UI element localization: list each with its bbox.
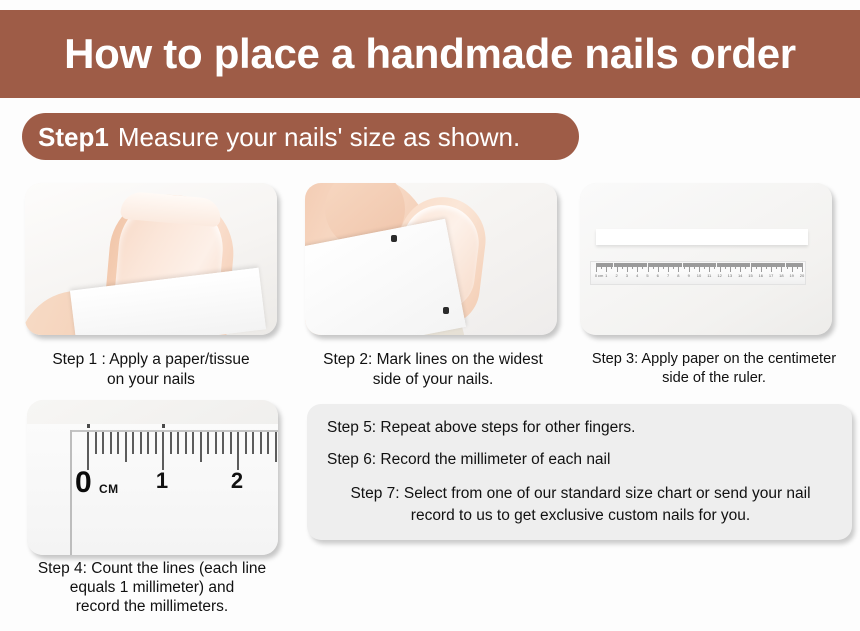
ruler-mm-tick — [185, 432, 187, 454]
ruler-mm-tick — [132, 432, 134, 454]
ruler-mm-tick — [222, 432, 224, 454]
photo-card-step-3: 01234567891011121314151617181920cm — [580, 183, 832, 335]
caption-step-4-line-2: equals 1 millimeter) and — [2, 579, 302, 598]
ruler-left-edge — [70, 430, 72, 555]
ruler-number-18: 18 — [779, 273, 783, 278]
ruler-number-14: 14 — [738, 273, 742, 278]
ruler-number-13: 13 — [728, 273, 732, 278]
ruler-number-4: 4 — [636, 273, 638, 278]
ruler-number-11: 11 — [707, 273, 711, 278]
ruler-number-8: 8 — [677, 273, 679, 278]
photo-card-step-1 — [25, 183, 277, 335]
ruler-unit-label-small: cm — [598, 273, 603, 278]
ruler-mm-tick — [275, 432, 277, 462]
ruler-number-7: 7 — [667, 273, 669, 278]
ruler-mm-tick — [260, 432, 262, 454]
caption-step-1-line-1: Step 1 : Apply a paper/tissue — [10, 350, 292, 370]
ruler-mm-tick — [110, 432, 112, 454]
ruler-mm-tick — [207, 432, 209, 454]
step1-banner-text: Measure your nails' size as shown. — [118, 124, 520, 150]
finger-with-paper-strip-photo — [25, 183, 277, 335]
ruler-number-12: 12 — [717, 273, 721, 278]
ruler-mm-tick — [125, 432, 127, 462]
ruler-unit-label: CM — [99, 482, 119, 496]
ruler-number-16: 16 — [759, 273, 763, 278]
ruler-number-20: 20 — [800, 273, 804, 278]
page-header-bar: How to place a handmade nails order — [0, 10, 860, 98]
ruler-mm-tick — [147, 432, 149, 454]
marking-paper-on-nail-photo — [305, 183, 557, 335]
caption-step-3-line-1: Step 3: Apply paper on the centimeter — [570, 350, 858, 369]
mark-dot-left — [87, 424, 90, 428]
ruler-mm-tick — [267, 432, 269, 454]
ruler-mm-tick — [252, 432, 254, 454]
ruler-number-1: 1 — [605, 273, 607, 278]
ruler-number-2: 2 — [615, 273, 617, 278]
ruler-number-19: 19 — [789, 273, 793, 278]
page-title: How to place a handmade nails order — [64, 33, 796, 75]
mark-dot-right — [162, 424, 165, 428]
ruler-number-3: 3 — [626, 273, 628, 278]
ruler-closeup-photo: 0 CM 123 — [27, 400, 278, 555]
ruler-mm-tick — [102, 432, 104, 454]
ruler-mm-tick — [140, 432, 142, 454]
ruler-mm-tick — [87, 432, 89, 470]
ruler-number-10: 10 — [697, 273, 701, 278]
caption-step-3: Step 3: Apply paper on the centimeter si… — [570, 350, 858, 388]
ruler-mm-tick — [117, 432, 119, 454]
caption-step-4-line-1: Step 4: Count the lines (each line — [2, 560, 302, 579]
ruler-mm-tick — [95, 432, 97, 454]
photo-card-step-2 — [305, 183, 557, 335]
ruler-mm-tick — [215, 432, 217, 454]
caption-step-2: Step 2: Mark lines on the widest side of… — [292, 350, 574, 390]
ruler-number-2: 2 — [231, 468, 243, 494]
paper-strip-on-ruler-photo: 01234567891011121314151617181920cm — [580, 183, 832, 335]
ruler-mm-tick — [155, 432, 157, 454]
ruler-number-17: 17 — [769, 273, 773, 278]
step1-banner: Step1 Measure your nails' size as shown. — [22, 113, 579, 160]
ruler-number-1: 1 — [156, 468, 168, 494]
step-5-line: Step 5: Repeat above steps for other fin… — [327, 420, 834, 436]
ruler-mm-tick — [200, 432, 202, 462]
pen-mark-top — [391, 235, 397, 242]
ruler-mm-tick — [162, 432, 164, 470]
ruler-mm-tick — [237, 432, 239, 470]
ruler-number-15: 15 — [748, 273, 752, 278]
caption-step-2-line-1: Step 2: Mark lines on the widest — [292, 350, 574, 370]
step-6-line: Step 6: Record the millimeter of each na… — [327, 452, 834, 468]
paper-strip-shape — [596, 229, 808, 245]
step1-badge-label: Step1 — [38, 124, 109, 150]
caption-step-1-line-2: on your nails — [10, 370, 292, 390]
steps-5-to-7-panel: Step 5: Repeat above steps for other fin… — [307, 404, 852, 540]
ruler-tick-marks: 01234567891011121314151617181920cm — [591, 262, 805, 284]
pen-mark-bottom — [443, 307, 449, 314]
caption-step-4: Step 4: Count the lines (each line equal… — [2, 560, 302, 617]
ruler-number-0: 0 — [595, 273, 597, 278]
caption-step-4-line-3: record the millimeters. — [2, 598, 302, 617]
caption-step-3-line-2: side of the ruler. — [570, 369, 858, 388]
ruler-zero-label: 0 — [75, 466, 92, 500]
photo-card-step-4: 0 CM 123 — [27, 400, 278, 555]
ruler-mm-tick — [192, 432, 194, 454]
caption-step-2-line-2: side of your nails. — [292, 370, 574, 390]
photo-background — [580, 183, 832, 335]
caption-step-1: Step 1 : Apply a paper/tissue on your na… — [10, 350, 292, 390]
ruler-number-5: 5 — [646, 273, 648, 278]
ruler-tick — [802, 263, 803, 272]
ruler-mm-tick — [245, 432, 247, 454]
ruler-mm-tick — [170, 432, 172, 454]
small-ruler-shape: 01234567891011121314151617181920cm — [590, 261, 806, 285]
ruler-mm-tick — [230, 432, 232, 454]
ruler-number-9: 9 — [688, 273, 690, 278]
ruler-number-6: 6 — [657, 273, 659, 278]
ruler-mm-tick — [177, 432, 179, 454]
step-7-line: Step 7: Select from one of our standard … — [327, 483, 834, 528]
